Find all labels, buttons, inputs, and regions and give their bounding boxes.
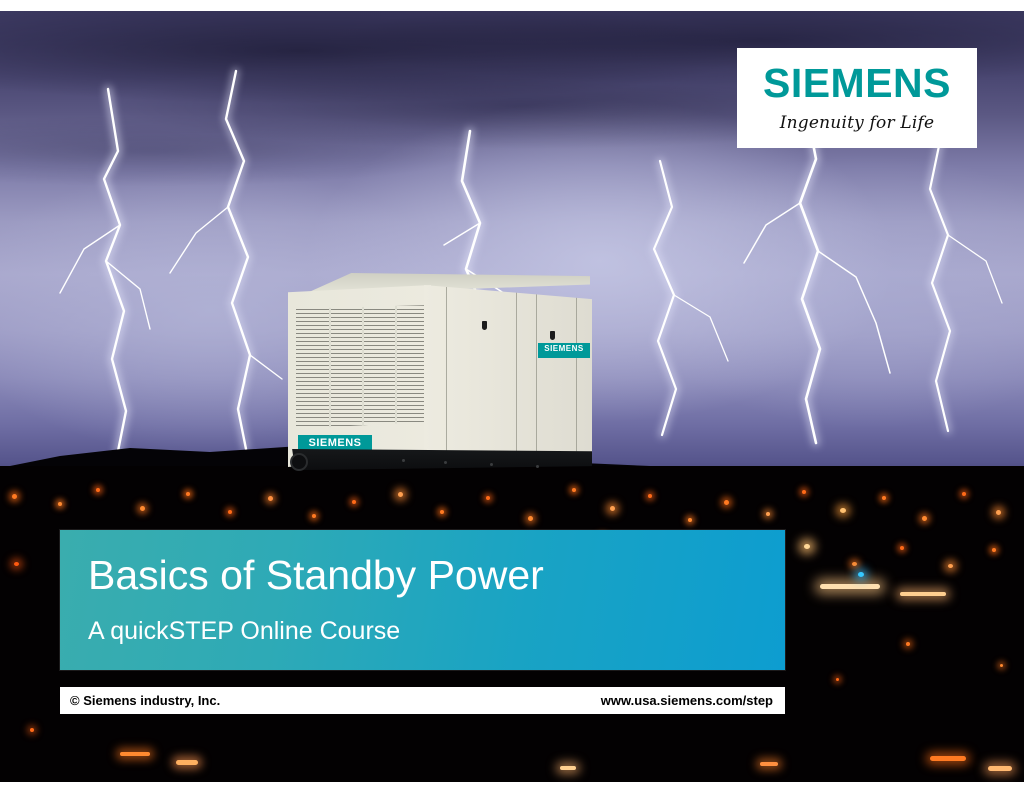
footer-bar: © Siemens industry, Inc. www.usa.siemens… (60, 687, 785, 714)
generator-door-panel: SIEMENS (424, 285, 592, 461)
siemens-wordmark: SIEMENS (763, 63, 951, 104)
generator-badge-right: SIEMENS (538, 343, 590, 358)
door-handle-rear (550, 331, 555, 340)
title-slide: SIEMENS SIEMENS SIEMENS Ingenuity for Li… (0, 0, 1024, 791)
siemens-claim: Ingenuity for Life (780, 113, 935, 133)
door-handle-front (482, 321, 487, 330)
generator-base-port (290, 453, 308, 471)
generator-louver-panel: SIEMENS (288, 285, 431, 467)
louver-vents (296, 305, 431, 429)
bottom-white-strip (0, 782, 1024, 791)
top-white-strip (0, 0, 1024, 11)
copyright-text: © Siemens industry, Inc. (70, 693, 220, 708)
siemens-logo-plate: SIEMENS Ingenuity for Life (737, 48, 977, 148)
title-banner: Basics of Standby Power A quickSTEP Onli… (60, 530, 785, 670)
standby-generator-image: SIEMENS SIEMENS (284, 273, 602, 481)
page-title: Basics of Standby Power (88, 554, 544, 597)
website-link[interactable]: www.usa.siemens.com/step (601, 693, 773, 708)
page-subtitle: A quickSTEP Online Course (88, 618, 400, 644)
